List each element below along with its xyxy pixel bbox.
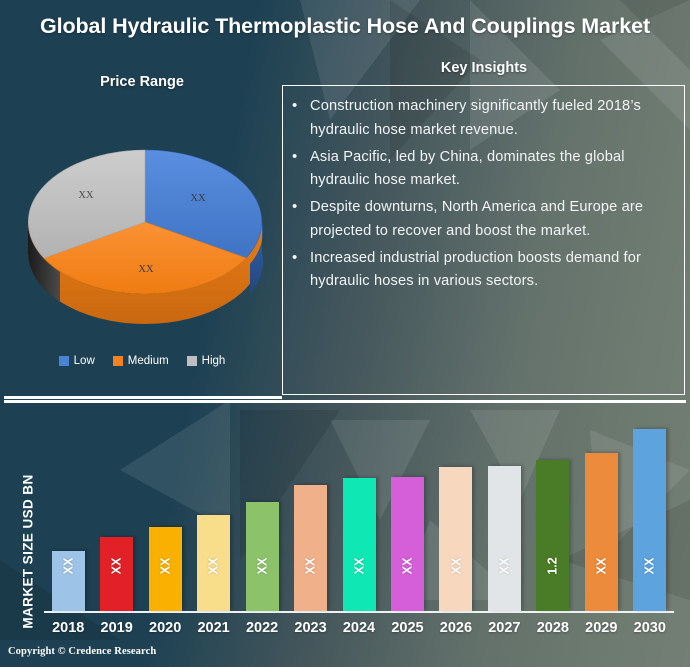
bar-2028[interactable]: 1.2 xyxy=(536,460,569,611)
copyright-notice: Copyright © Credence Research xyxy=(8,646,156,657)
x-label-2025: 2025 xyxy=(383,620,431,636)
legend-swatch-medium xyxy=(113,356,123,366)
bar-value-2029: XX xyxy=(594,557,608,574)
title-bar: Global Hydraulic Thermoplastic Hose And … xyxy=(0,0,690,52)
x-label-2022: 2022 xyxy=(238,620,286,636)
bar-value-2028: 1.2 xyxy=(546,557,560,574)
list-item: Construction machinery significantly fue… xyxy=(289,95,674,143)
pie-legend: Low Medium High xyxy=(4,355,280,367)
bar-value-2025: XX xyxy=(400,557,414,574)
bar-2019[interactable]: XX xyxy=(100,537,133,611)
list-item: Increased industrial production boosts d… xyxy=(289,247,674,295)
pie-label-medium: XX xyxy=(138,264,154,275)
pie-label-low: XX xyxy=(190,193,206,204)
bar-value-2018: XX xyxy=(61,557,75,574)
bar-2025[interactable]: XX xyxy=(391,477,424,611)
x-axis-line xyxy=(44,611,674,614)
bar-2023[interactable]: XX xyxy=(294,485,327,610)
section-divider xyxy=(4,400,686,403)
bar-2020[interactable]: XX xyxy=(149,527,182,611)
bar-2018[interactable]: XX xyxy=(52,551,85,611)
top-section: Price Range xyxy=(0,52,690,400)
key-insights-panel: Key Insights Construction machinery sign… xyxy=(282,52,686,400)
bar-2029[interactable]: XX xyxy=(585,453,618,611)
bar-2030[interactable]: XX xyxy=(633,429,666,611)
bar-chart-plot: XXXXXXXXXXXXXXXXXXXX1.2XXXX xyxy=(44,410,674,613)
bar-value-2020: XX xyxy=(158,557,172,574)
x-axis-labels: 2018201920202021202220232024202520262027… xyxy=(44,620,674,642)
bar-value-2022: XX xyxy=(255,557,269,574)
pie-chart-title: Price Range xyxy=(4,74,280,90)
bar-2022[interactable]: XX xyxy=(246,502,279,610)
legend-label-high: High xyxy=(202,355,226,367)
bar-value-2030: XX xyxy=(643,557,657,574)
list-item: Asia Pacific, led by China, dominates th… xyxy=(289,146,674,194)
bar-value-2023: XX xyxy=(304,557,318,574)
legend-item-high[interactable]: High xyxy=(187,355,226,367)
legend-label-medium: Medium xyxy=(128,355,169,367)
x-label-2027: 2027 xyxy=(480,620,528,636)
bar-value-2026: XX xyxy=(449,557,463,574)
x-label-2028: 2028 xyxy=(529,620,577,636)
pie-chart-panel: Price Range xyxy=(4,52,280,400)
x-label-2020: 2020 xyxy=(141,620,189,636)
x-label-2026: 2026 xyxy=(432,620,480,636)
x-label-2021: 2021 xyxy=(189,620,237,636)
pie-chart: XX XX XX xyxy=(20,114,270,329)
infographic-root: Global Hydraulic Thermoplastic Hose And … xyxy=(0,0,690,667)
legend-swatch-low xyxy=(59,356,69,366)
bar-2021[interactable]: XX xyxy=(197,515,230,610)
bar-chart-section: MARKET SIZE USD BN XXXXXXXXXXXXXXXXXXXX1… xyxy=(0,404,690,667)
x-label-2019: 2019 xyxy=(92,620,140,636)
bar-2027[interactable]: XX xyxy=(488,466,521,611)
bar-2024[interactable]: XX xyxy=(343,478,376,610)
y-axis-label: MARKET SIZE USD BN xyxy=(21,462,36,642)
x-label-2018: 2018 xyxy=(44,620,92,636)
list-item: Despite downturns, North America and Eur… xyxy=(289,196,674,244)
key-insights-list: Construction machinery significantly fue… xyxy=(289,95,674,294)
x-label-2024: 2024 xyxy=(335,620,383,636)
legend-item-medium[interactable]: Medium xyxy=(113,355,169,367)
x-label-2030: 2030 xyxy=(626,620,674,636)
legend-label-low: Low xyxy=(74,355,95,367)
bar-value-2019: XX xyxy=(110,557,124,574)
key-insights-box: Construction machinery significantly fue… xyxy=(282,85,685,395)
legend-item-low[interactable]: Low xyxy=(59,355,95,367)
key-insights-title: Key Insights xyxy=(282,60,686,76)
bar-2026[interactable]: XX xyxy=(439,467,472,611)
pie-chart-svg: XX XX XX xyxy=(20,114,270,329)
bar-value-2024: XX xyxy=(352,557,366,574)
x-label-2029: 2029 xyxy=(577,620,625,636)
bar-value-2021: XX xyxy=(207,557,221,574)
section-divider-left xyxy=(4,396,282,399)
bar-value-2027: XX xyxy=(497,557,511,574)
page-title: Global Hydraulic Thermoplastic Hose And … xyxy=(40,14,650,39)
x-label-2023: 2023 xyxy=(286,620,334,636)
pie-label-high: XX xyxy=(78,190,94,201)
legend-swatch-high xyxy=(187,356,197,366)
